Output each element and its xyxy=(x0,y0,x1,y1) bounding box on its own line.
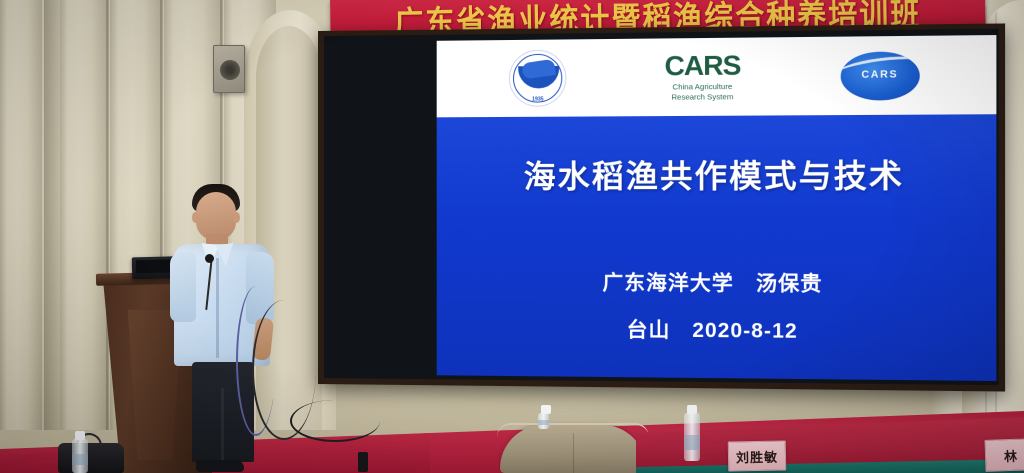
guangdong-ocean-university-logo: 1935 xyxy=(509,50,566,107)
presenter-ear-right xyxy=(233,212,240,223)
wall-loudspeaker-icon xyxy=(213,45,245,93)
presenter-trouser-seam xyxy=(221,388,224,462)
stage-cable-3 xyxy=(290,400,380,442)
carsfs-oval-logo: CARS xyxy=(840,51,919,100)
presentation-photo-scene: 广东省渔业统计暨稻渔综合种养培训班 1935 CARS China Agricu… xyxy=(0,0,1024,473)
name-card-lin: 林 xyxy=(984,438,1024,472)
pilaster-gap-1 xyxy=(44,0,60,430)
slide-content: 海水稻渔共作模式与技术 广东海洋大学 汤保贵 台山 2020-8-12 xyxy=(437,114,997,381)
name-card-liu: 刘胜敏 xyxy=(728,440,787,471)
pilaster-2 xyxy=(60,0,108,430)
led-screen-body: 1935 CARS China Agriculture Research Sys… xyxy=(324,29,999,385)
water-bottle-left xyxy=(72,439,88,473)
pilaster-groove-1 xyxy=(106,0,109,430)
carsfs-logo-mark: CARS xyxy=(840,68,919,80)
presenter-ear-left xyxy=(192,212,199,223)
led-screen-frame: 1935 CARS China Agriculture Research Sys… xyxy=(318,23,1005,391)
slide-logo-bar: 1935 CARS China Agriculture Research Sys… xyxy=(437,35,997,117)
cable-power-brick xyxy=(358,452,368,472)
bag-on-stage xyxy=(58,443,124,473)
pilaster-1 xyxy=(0,0,42,430)
presenter-sleeve-left xyxy=(170,252,196,322)
presenter-shoes xyxy=(196,460,244,472)
presenter-head xyxy=(196,192,236,240)
slide-title: 海水稻渔共作模式与技术 xyxy=(524,150,904,197)
cars-logo: CARS China Agriculture Research System xyxy=(664,52,740,101)
cars-logo-subtitle-line2: Research System xyxy=(671,92,733,102)
water-bottle-center xyxy=(538,413,549,429)
cars-logo-mark: CARS xyxy=(664,52,740,80)
presentation-slide: 1935 CARS China Agriculture Research Sys… xyxy=(437,35,997,381)
presenter-shirt-placket xyxy=(216,258,219,358)
cars-logo-subtitle-line1: China Agriculture xyxy=(673,82,733,92)
slide-author: 广东海洋大学 汤保贵 xyxy=(603,266,823,297)
water-bottle-table xyxy=(684,413,700,461)
chair-backrest-rim xyxy=(497,423,649,437)
logo-year-text: 1935 xyxy=(510,96,565,102)
slide-place-date: 台山 2020-8-12 xyxy=(627,313,798,344)
microphone-icon xyxy=(205,254,214,263)
